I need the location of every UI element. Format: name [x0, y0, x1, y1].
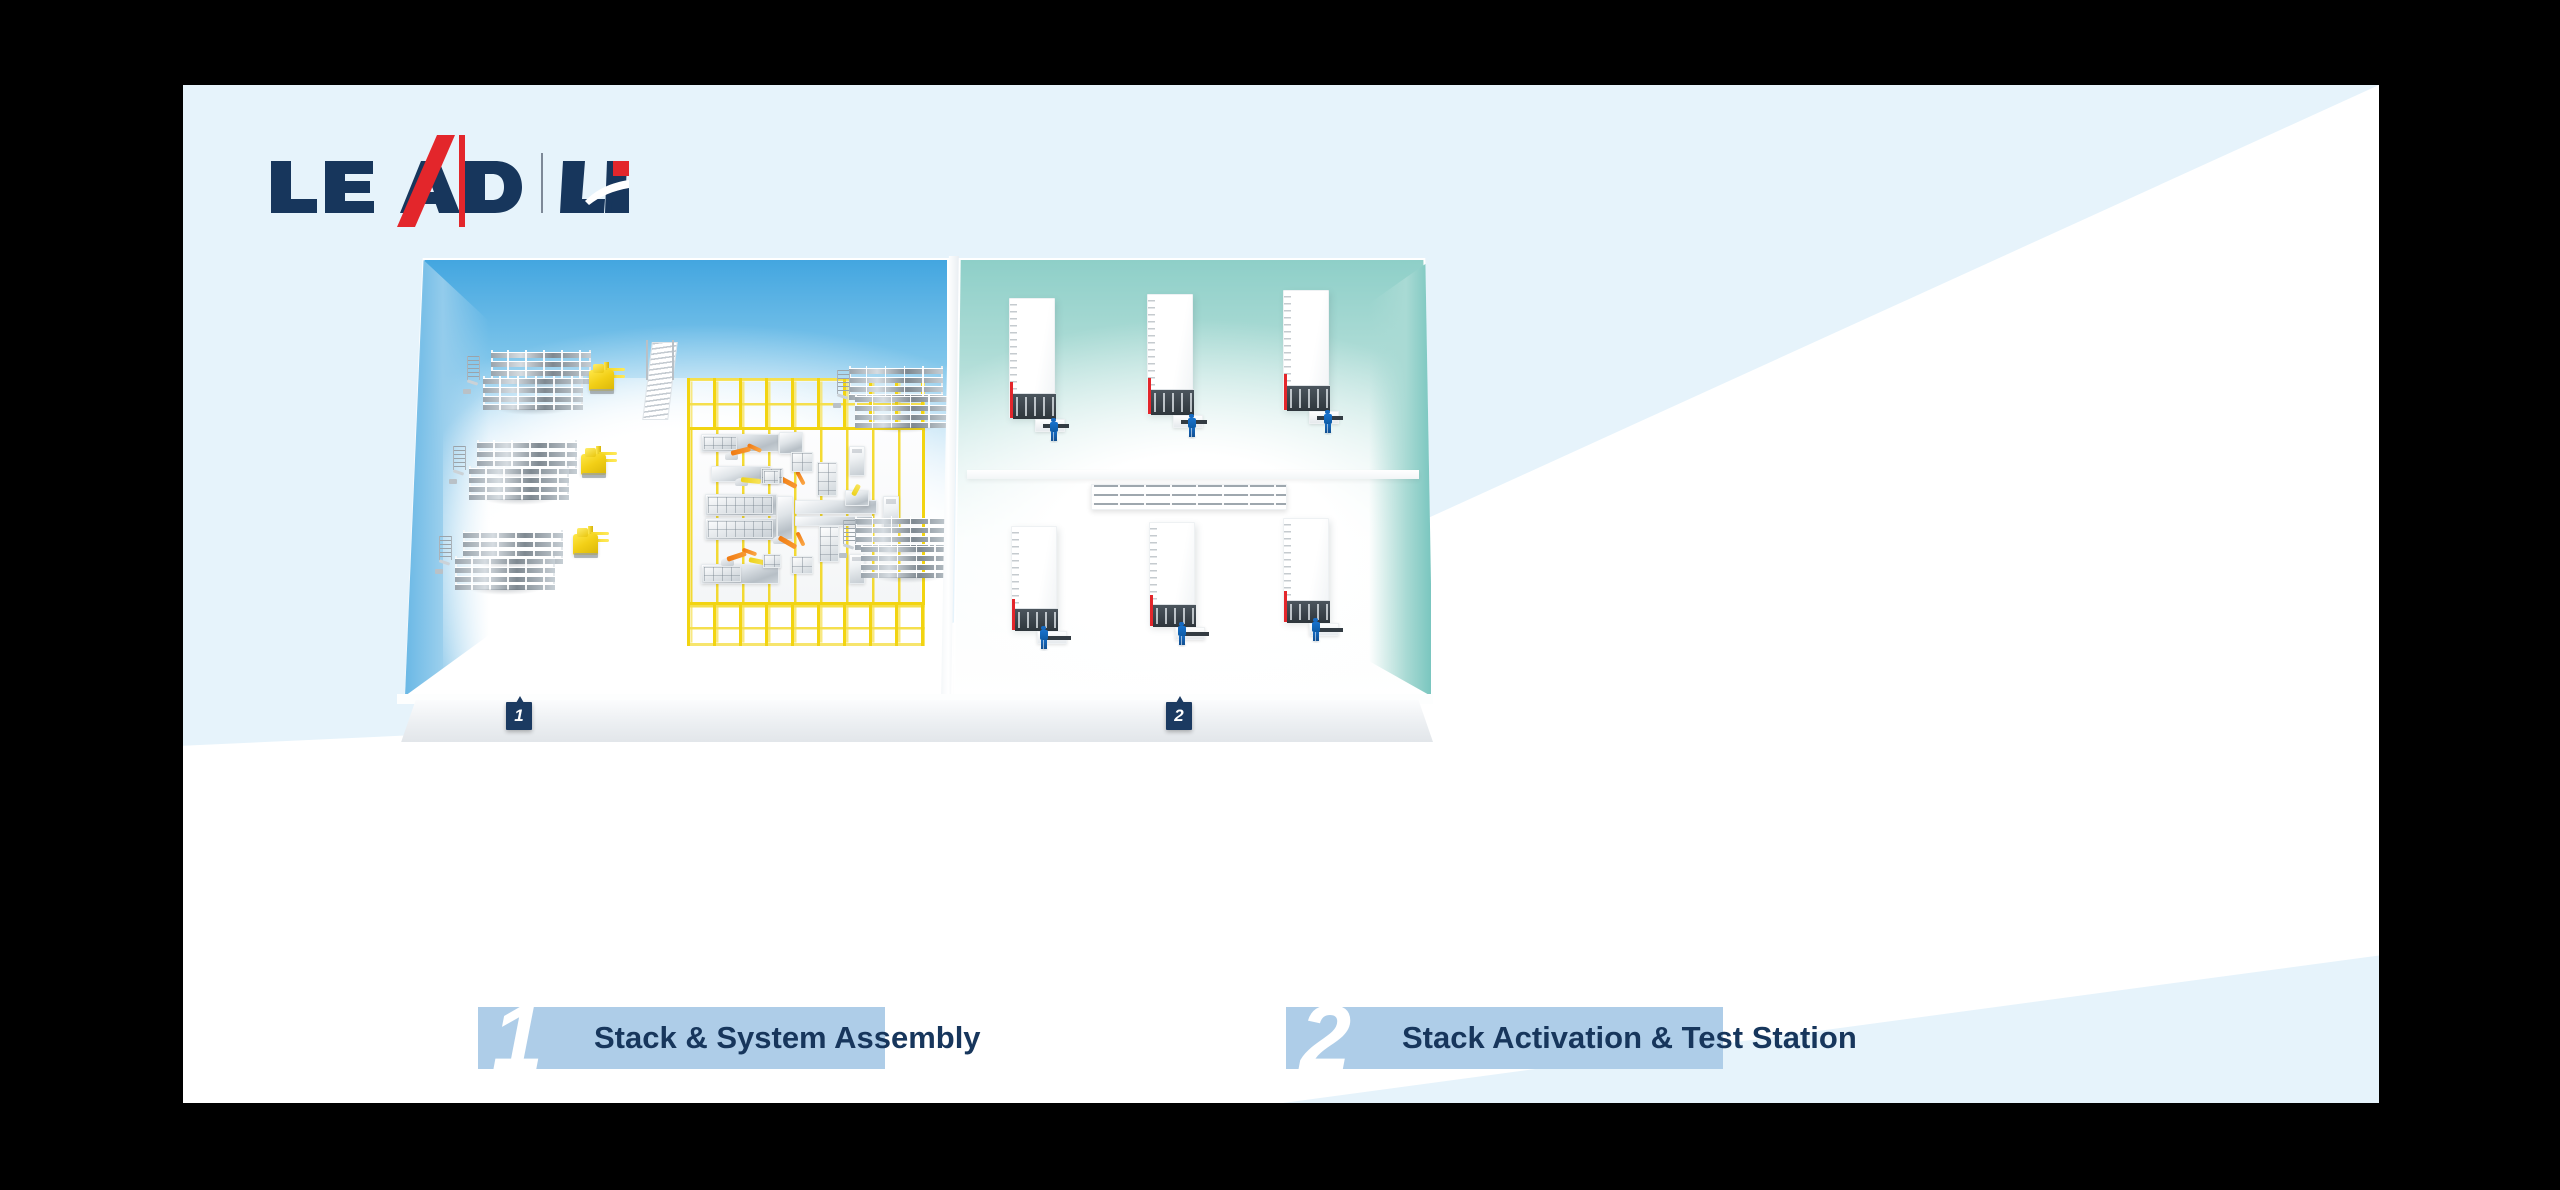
zone-1-hall[interactable]: [403, 258, 949, 698]
zone-2-hall[interactable]: [953, 258, 1433, 698]
material-pallet: [763, 470, 779, 484]
zone-2-inner-divider: [967, 470, 1419, 479]
rack-loading-arm: [831, 394, 849, 408]
logo-red-tick: [613, 161, 629, 176]
worker-figure: [1177, 622, 1186, 644]
test-chamber: [1011, 526, 1057, 630]
material-pallet: [817, 462, 837, 496]
rack-loading-arm: [433, 560, 451, 574]
rack-access-ladder: [453, 446, 466, 470]
machine-panel: [707, 520, 773, 538]
caption-label-2: Stack Activation & Test Station: [1402, 1020, 1857, 1056]
slide-canvas: 1 2 1 Stack & System Assembly 2 Stack Ac…: [183, 85, 2379, 1103]
logo-divider: [541, 153, 543, 213]
storage-rack: [483, 376, 583, 410]
safety-fence-bottom: [687, 602, 925, 646]
storage-rack: [469, 466, 569, 500]
zone-marker-1[interactable]: 1: [506, 702, 532, 730]
caption-bar-2[interactable]: 2 Stack Activation & Test Station: [1286, 1007, 1723, 1069]
factory-floorplan-3d: 1 2: [293, 210, 1483, 770]
worker-figure: [1323, 410, 1332, 432]
worker-figure: [1039, 626, 1048, 648]
rack-loading-arm: [837, 544, 855, 558]
rack-access-ladder: [843, 520, 856, 544]
machine-panel: [707, 496, 773, 514]
material-pallet: [763, 554, 781, 568]
caption-number-1: 1: [492, 1003, 541, 1075]
forklift-agv: [589, 362, 625, 396]
forklift-agv: [573, 526, 609, 560]
rack-access-ladder: [837, 370, 850, 394]
caption-label-1: Stack & System Assembly: [594, 1020, 981, 1056]
material-pallet: [819, 526, 839, 562]
rack-loading-arm: [447, 470, 465, 484]
storage-rack: [455, 556, 555, 590]
material-pallet: [791, 556, 813, 574]
forklift-agv: [581, 446, 617, 480]
test-chamber: [1283, 518, 1329, 622]
robot-arm: [725, 444, 755, 460]
robot-arm: [773, 528, 803, 544]
caption-bar-1[interactable]: 1 Stack & System Assembly: [478, 1007, 885, 1069]
stair-tower: [641, 342, 681, 420]
storage-rack: [855, 394, 949, 428]
material-pallet: [791, 452, 813, 472]
rack-access-ladder: [439, 536, 452, 560]
test-chamber: [1147, 294, 1193, 414]
rack-loading-arm: [461, 380, 479, 394]
machine-panel: [703, 566, 741, 582]
logo-lead-letters: [271, 161, 522, 213]
equipment-cabinet: [849, 446, 865, 476]
worker-figure: [1187, 414, 1196, 436]
storage-rack: [861, 544, 949, 578]
platform-base: [397, 700, 1433, 742]
test-chamber: [1009, 298, 1055, 418]
test-chamber: [1283, 290, 1329, 410]
zone-marker-2[interactable]: 2: [1166, 702, 1192, 730]
rack-access-ladder: [467, 356, 480, 380]
shelf-rack: [1091, 484, 1287, 510]
assembly-machine: [779, 432, 803, 454]
worker-figure: [1311, 618, 1320, 640]
worker-figure: [1049, 418, 1058, 440]
caption-number-2: 2: [1300, 1003, 1349, 1075]
robot-arm-handler: [847, 486, 877, 502]
test-chamber: [1149, 522, 1195, 626]
